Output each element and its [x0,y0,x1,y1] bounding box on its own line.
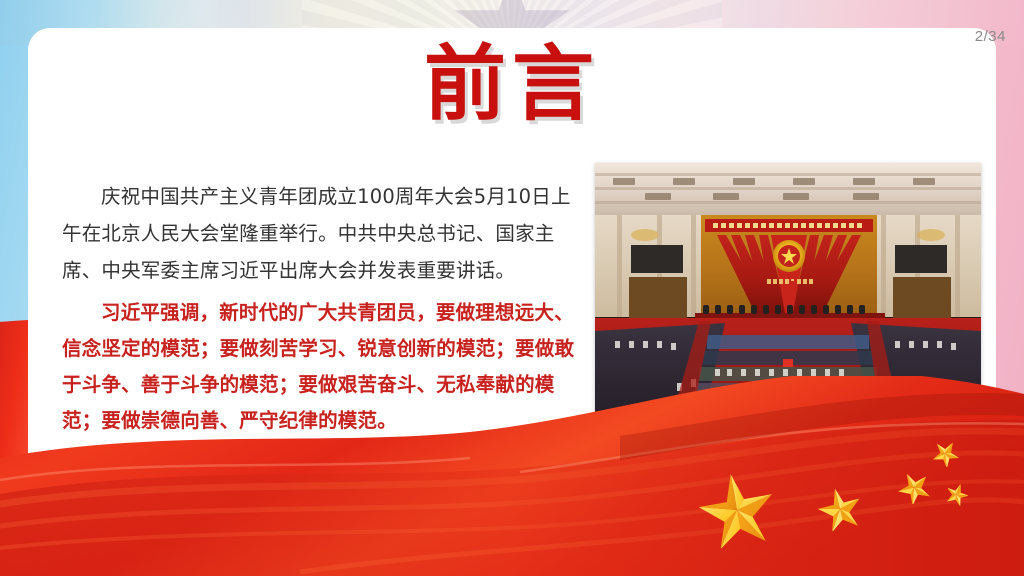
page-indicator: 2/34 [975,28,1006,45]
conference-photo-graphic [595,163,981,421]
star-small-2-graphic [931,440,959,467]
star-large-icon [697,472,777,548]
star-medium-icon [817,487,863,531]
page-title: 前言 [0,44,1024,126]
star-medium-graphic [817,487,863,531]
body-text-column: 庆祝中国共产主义青年团成立100周年大会5月10日上午在北京人民大会堂隆重举行。… [62,178,580,439]
slide-root: 2/34 前言 庆祝中国共产主义青年团成立100周年大会5月10日上午在北京人民… [0,0,1024,576]
star-large-graphic [697,472,777,548]
star-small-1-graphic [897,471,931,504]
star-small-3-graphic [944,483,968,506]
conference-photo [595,163,981,421]
star-small-3-icon [944,483,968,506]
paragraph-intro: 庆祝中国共产主义青年团成立100周年大会5月10日上午在北京人民大会堂隆重举行。… [62,178,580,289]
paragraph-quote: 习近平强调，新时代的广大共青团员，要做理想远大、信念坚定的模范；要做刻苦学习、锐… [62,295,580,439]
star-small-1-icon [897,471,931,504]
star-small-2-icon [931,440,959,467]
